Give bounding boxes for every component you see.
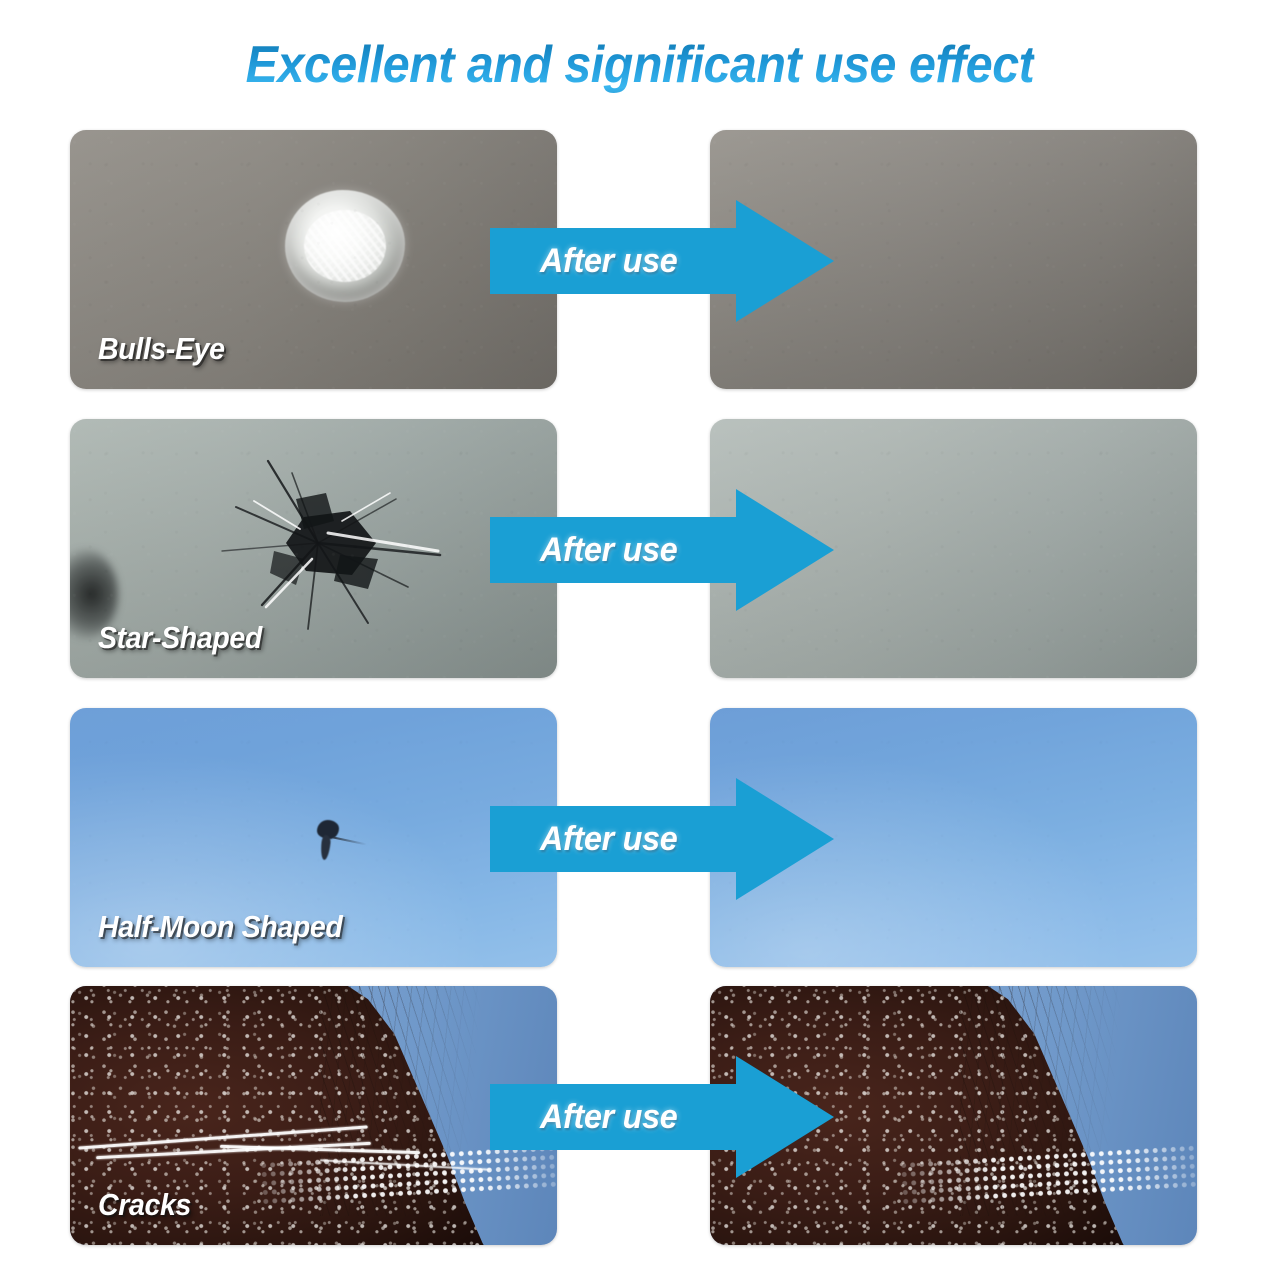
after-image-bulls-eye [710,130,1197,389]
before-panel-half-moon-shaped[interactable]: Half-Moon Shaped [70,708,557,967]
comparison-row-star-shaped: Star-Shaped After use [0,419,1280,681]
panel-caption-bulls-eye: Bulls-Eye [98,331,225,367]
panel-caption-half-moon-shaped: Half-Moon Shaped [98,909,342,945]
star-crack-graphic [200,447,450,637]
before-panel-cracks[interactable]: Cracks [70,986,557,1245]
bulls-eye-chip-graphic [285,190,405,302]
after-image-star-shaped [710,419,1197,678]
title-bar: Excellent and significant use effect [0,34,1280,100]
before-panel-star-shaped[interactable]: Star-Shaped [70,419,557,678]
after-panel-cracks[interactable] [710,986,1197,1245]
comparison-row-bulls-eye: Bulls-Eye After use [0,130,1280,392]
before-panel-bulls-eye[interactable]: Bulls-Eye [70,130,557,389]
panel-caption-cracks: Cracks [98,1187,191,1223]
panel-caption-star-shaped: Star-Shaped [98,620,262,656]
after-panel-half-moon-shaped[interactable] [710,708,1197,967]
after-panel-bulls-eye[interactable] [710,130,1197,389]
after-panel-star-shaped[interactable] [710,419,1197,678]
page-title: Excellent and significant use effect [246,34,1035,96]
half-moon-chip-graphic [315,820,345,862]
after-image-half-moon-shaped [710,708,1197,967]
comparison-row-half-moon-shaped: Half-Moon Shaped After use [0,708,1280,970]
comparison-row-cracks: Cracks After use [0,986,1280,1248]
